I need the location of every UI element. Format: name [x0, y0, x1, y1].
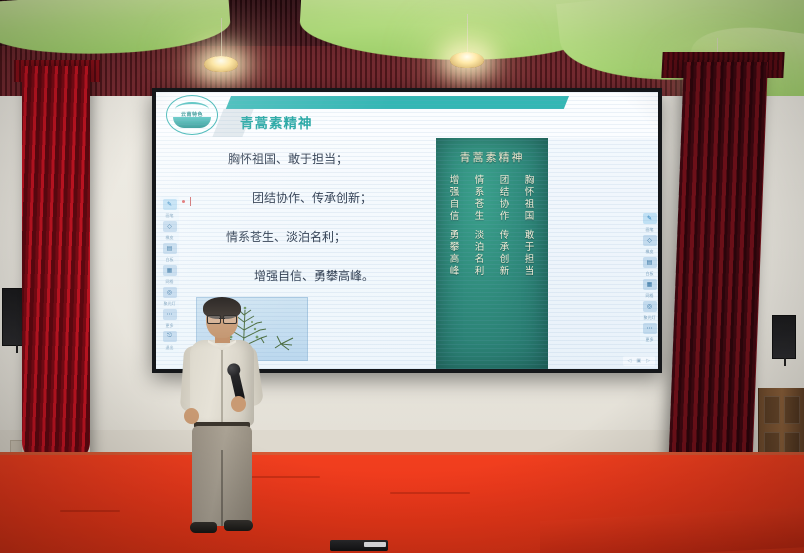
- calligraphy-char: 国: [525, 212, 535, 223]
- stage-curtain-right: [668, 62, 768, 472]
- calligraphy-char: 强: [450, 188, 460, 199]
- floor-edge: [0, 452, 804, 455]
- lamp-cord: [221, 18, 222, 58]
- toolbar-item-label: 更多: [646, 337, 654, 342]
- calligraphy-char: 峰: [450, 267, 460, 278]
- lamp-cord: [467, 14, 468, 54]
- calligraphy-char: 信: [450, 212, 460, 223]
- calligraphy-panel: 青蒿素精神 胸怀祖国敢于担当团结协作传承创新情系苍生淡泊名利增强自信勇攀高峰: [436, 138, 548, 369]
- calligraphy-char: 自: [450, 200, 460, 211]
- calligraphy-char: 新: [500, 267, 510, 278]
- calligraphy-char: 祖: [525, 200, 535, 211]
- calligraphy-char: 传: [500, 231, 510, 242]
- lamp-shade: [450, 52, 484, 68]
- exit-icon[interactable]: ⎋: [163, 331, 177, 342]
- toolbar-item-label: 画笔: [166, 213, 174, 218]
- eraser-icon[interactable]: ◇: [643, 235, 657, 246]
- calligraphy-title: 青蒿素精神: [436, 149, 548, 165]
- lamp-shade: [204, 56, 238, 72]
- calligraphy-column: 胸怀祖国敢于担当: [525, 176, 535, 278]
- presenter-left-hand: [184, 408, 199, 424]
- pen-color-indicator[interactable]: [182, 200, 185, 203]
- stage-floor: [0, 452, 804, 553]
- calligraphy-char: 协: [500, 200, 510, 211]
- calligraphy-column: 情系苍生淡泊名利: [475, 176, 485, 278]
- door-panel: [764, 396, 780, 424]
- toolbar-item-label: 更多: [166, 323, 174, 328]
- more-icon[interactable]: ⋯: [643, 323, 657, 334]
- laptop-lid: [364, 542, 386, 547]
- brand-logo-icon: 云南特色: [166, 95, 218, 135]
- status-prev-icon[interactable]: ◁: [628, 358, 632, 364]
- toolbar-item-label: 聚光灯: [644, 315, 656, 320]
- pen-icon[interactable]: ✎: [163, 199, 177, 210]
- logo-text: 云南特色: [166, 111, 218, 118]
- toolbar-item-label: 聚光灯: [164, 301, 176, 306]
- calligraphy-char: 高: [450, 255, 460, 266]
- ppt-annotation-toolbar-right[interactable]: ✎画笔◇橡皮▤白板▦网格◎聚光灯⋯更多: [640, 210, 658, 345]
- toolbar-item-label: 白板: [646, 271, 654, 276]
- laptop-on-floor[interactable]: [330, 540, 388, 551]
- more-icon[interactable]: ⋯: [163, 309, 177, 320]
- calligraphy-char: 淡: [475, 231, 485, 242]
- lens-right: [223, 315, 237, 324]
- calligraphy-char: 创: [500, 255, 510, 266]
- calligraphy-char: 利: [475, 267, 485, 278]
- calligraphy-char: 苍: [475, 200, 485, 211]
- calligraphy-char: 名: [475, 255, 485, 266]
- toolbar-item-label: 白板: [166, 257, 174, 262]
- stage-curtain-left: [22, 66, 90, 466]
- presenter-left-shoe: [190, 522, 217, 533]
- toolbar-item-label: 网格: [646, 293, 654, 298]
- pen-icon[interactable]: ✎: [643, 213, 657, 224]
- door-panel: [784, 396, 800, 424]
- glasses-bridge: [219, 318, 225, 319]
- grid-icon[interactable]: ▦: [163, 265, 177, 276]
- calligraphy-char: 团: [500, 176, 510, 187]
- calligraphy-char: 结: [500, 188, 510, 199]
- grid-icon[interactable]: ▦: [643, 279, 657, 290]
- calligraphy-char: 敢: [525, 231, 535, 242]
- eraser-icon[interactable]: ◇: [163, 221, 177, 232]
- lens-left: [207, 315, 221, 324]
- calligraphy-column: 增强自信勇攀高峰: [450, 176, 460, 278]
- toolbar-item-label: 橡皮: [646, 249, 654, 254]
- calligraphy-columns: 胸怀祖国敢于担当团结协作传承创新情系苍生淡泊名利增强自信勇攀高峰: [442, 176, 542, 278]
- carpet-seam: [60, 510, 120, 512]
- calligraphy-char: 泊: [475, 243, 485, 254]
- calligraphy-char: 作: [500, 212, 510, 223]
- page-icon[interactable]: ▤: [163, 243, 177, 254]
- status-menu-icon[interactable]: ▣: [636, 358, 641, 364]
- slide-title: 青蒿素精神: [240, 112, 313, 132]
- status-next-icon[interactable]: ▷: [646, 358, 650, 364]
- presenter-right-hand: [231, 396, 246, 412]
- eyeglasses-icon: [207, 315, 237, 322]
- calligraphy-char: 勇: [450, 231, 460, 242]
- loudspeaker: [772, 315, 796, 359]
- toolbar-item-label: 橡皮: [166, 235, 174, 240]
- calligraphy-char: 当: [525, 267, 535, 278]
- ppt-status-bar[interactable]: ◁ ▣ ▷: [623, 356, 655, 366]
- stage-front-lip: [540, 507, 804, 553]
- calligraphy-char: 增: [450, 176, 460, 187]
- logo-wave: [173, 117, 211, 128]
- presenter-right-shoe: [224, 520, 253, 531]
- calligraphy-char: 系: [475, 188, 485, 199]
- calligraphy-char: 胸: [525, 176, 535, 187]
- photo-scene: 云南特色 青蒿素精神 胸怀祖国、敢于担当； 团结协作、传承创新； 情系苍生、淡泊…: [0, 0, 804, 553]
- spotlight-icon[interactable]: ◎: [643, 301, 657, 312]
- calligraphy-char: 承: [500, 243, 510, 254]
- page-icon[interactable]: ▤: [643, 257, 657, 268]
- calligraphy-char: 于: [525, 243, 535, 254]
- speaker-stand: [16, 345, 18, 353]
- toolbar-item-label: 退出: [166, 345, 174, 350]
- toolbar-item-label: 网格: [166, 279, 174, 284]
- calligraphy-char: 情: [475, 176, 485, 187]
- trouser-seam: [221, 450, 223, 526]
- calligraphy-char: 担: [525, 255, 535, 266]
- calligraphy-char: 攀: [450, 243, 460, 254]
- pen-cursor: [190, 197, 191, 206]
- toolbar-item-label: 画笔: [646, 227, 654, 232]
- presenter: [176, 300, 268, 543]
- carpet-seam: [390, 492, 470, 494]
- calligraphy-char: 怀: [525, 188, 535, 199]
- calligraphy-char: 生: [475, 212, 485, 223]
- speaker-stand: [784, 358, 786, 366]
- spotlight-icon[interactable]: ◎: [163, 287, 177, 298]
- calligraphy-column: 团结协作传承创新: [500, 176, 510, 278]
- shirt-placket: [221, 350, 223, 424]
